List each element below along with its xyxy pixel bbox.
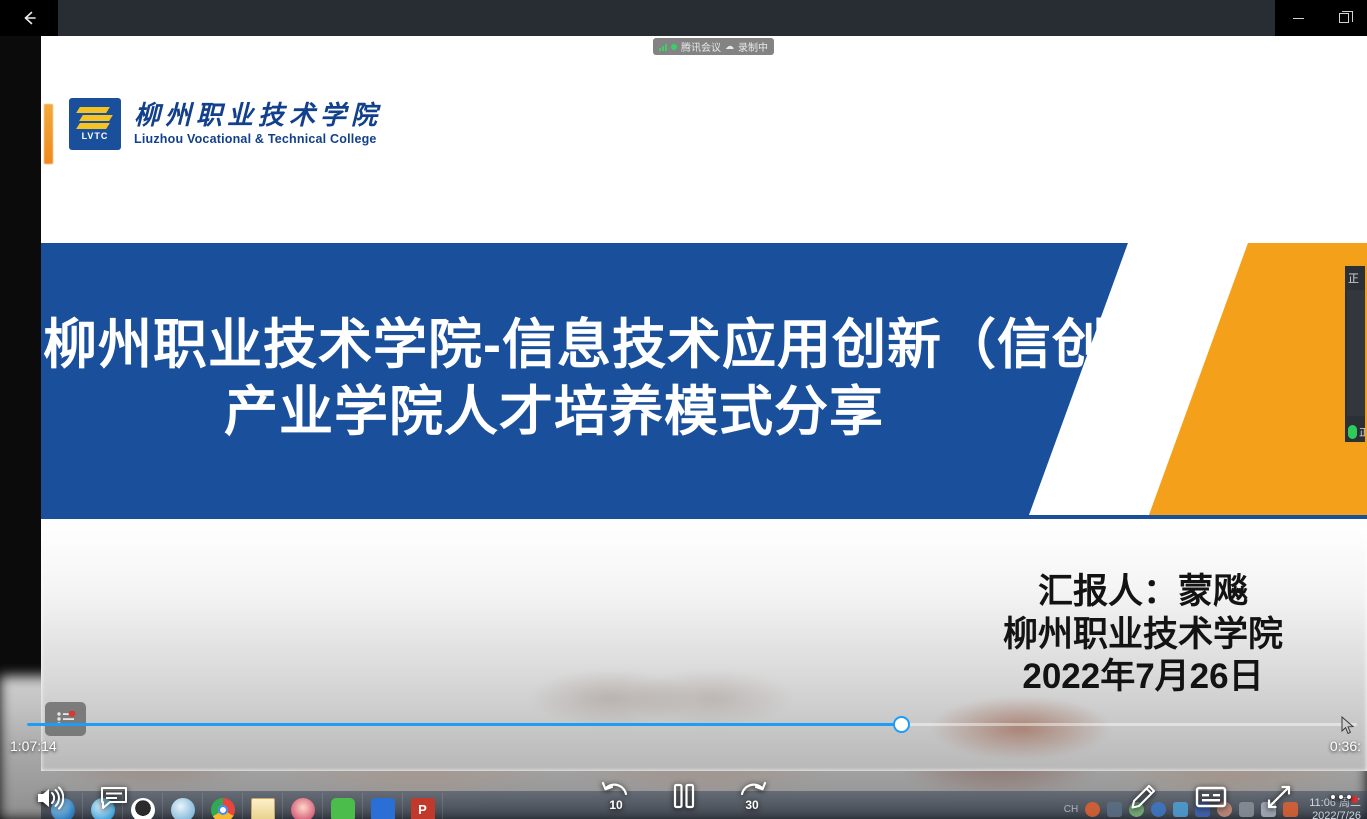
title-banner: 柳州职业技术学院-信息技术应用创新（信创） 产业学院人才培养模式分享 [41,243,1367,515]
lvtc-logo-icon: LVTC [69,98,121,150]
college-name-en: Liuzhou Vocational & Technical College [134,132,382,146]
recorded-desktop: LVTC 柳州职业技术学院 Liuzhou Vocational & Techn… [0,36,1367,819]
titlebar-strip [58,0,1367,36]
player-right-controls [1129,783,1351,811]
panel-video-area [1347,290,1365,416]
recording-badge: 腾讯会议 ☁ 录制中 [653,38,774,55]
restore-button[interactable] [1321,0,1367,36]
logo-mark-text: LVTC [82,131,109,141]
forward-30-icon[interactable]: 30 [735,781,769,811]
slide-left-accent [44,104,53,164]
title-text-block: 柳州职业技术学院-信息技术应用创新（信创） 产业学院人才培养模式分享 [41,243,1367,515]
college-name-cn: 柳州职业技术学院 [134,102,382,129]
rewind-10-icon[interactable]: 10 [599,781,633,811]
cloud-icon: ☁ [725,41,734,52]
player-controls-bar: 10 30 [0,770,1367,819]
back-arrow-icon[interactable] [0,0,58,36]
panel-title: 正 [1345,266,1365,289]
presenter-org: 柳州职业技术学院 [1003,614,1283,657]
window-controls [1275,0,1367,36]
presenter-name: 汇报人：蒙飚 [1003,571,1283,614]
meeting-participant-panel[interactable]: 正 正 [1343,264,1367,444]
minimize-button[interactable] [1275,0,1321,36]
meeting-app-name: 腾讯会议 [681,39,721,54]
slide-title-line-2: 产业学院人才培养模式分享 [41,379,1367,447]
signal-icon [659,43,667,51]
presentation-slide: LVTC 柳州职业技术学院 Liuzhou Vocational & Techn… [41,36,1367,771]
presenter-date: 2022年7月26日 [1003,656,1283,699]
panel-mic-label: 正 [1359,424,1367,439]
panel-mic-row: 正 [1348,424,1367,439]
presenter-options-icon[interactable] [45,702,86,736]
mouse-cursor [1341,716,1355,741]
svg-text:10: 10 [609,798,623,811]
microphone-on-icon [1348,425,1357,439]
logo-text-block: 柳州职业技术学院 Liuzhou Vocational & Technical … [134,102,382,146]
pencil-icon[interactable] [1129,783,1157,811]
fullscreen-icon[interactable] [1265,783,1293,811]
pause-icon[interactable] [671,781,697,811]
screen-root: LVTC 柳州职业技术学院 Liuzhou Vocational & Techn… [0,0,1367,819]
svg-text:30: 30 [745,798,759,811]
subtitles-icon[interactable] [1195,785,1227,809]
logo-glyph [78,107,112,130]
window-titlebar [0,0,1367,36]
status-dot-icon [671,44,677,50]
banner-bottom-rule [41,515,1367,519]
slide-title-line-1: 柳州职业技术学院-信息技术应用创新（信创） [41,312,1367,380]
college-logo: LVTC 柳州职业技术学院 Liuzhou Vocational & Techn… [69,98,382,150]
more-options-icon[interactable] [1331,795,1351,799]
recording-status: 录制中 [738,39,768,54]
presenter-info: 汇报人：蒙飚 柳州职业技术学院 2022年7月26日 [1003,571,1283,699]
